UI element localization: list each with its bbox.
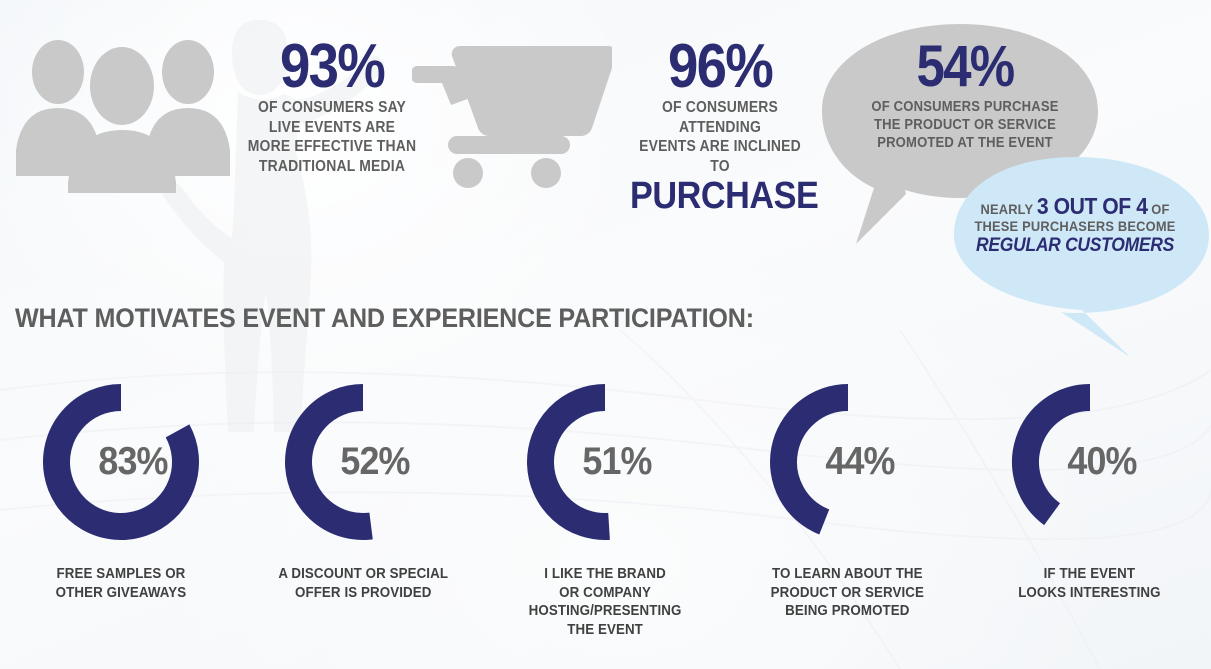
stat-block-96: 96% OF CONSUMERS ATTENDING EVENTS ARE IN… [620, 36, 820, 216]
bubble-line: THE PRODUCT OR SERVICE [858, 116, 1072, 134]
donut-category-label: IF THE EVENT LOOKS INTERESTING [1019, 565, 1161, 602]
bubble-line: OF CONSUMERS PURCHASE [858, 98, 1072, 116]
donut-ring: 51% [521, 378, 689, 546]
speech-bubble-blue-content: NEARLY 3 OUT OF 4 OF THESE PURCHASERS BE… [955, 198, 1195, 257]
stat-line: OF CONSUMERS ATTENDING [630, 98, 810, 137]
donut-value-label: 44% [770, 378, 925, 546]
people-group-icon [12, 28, 232, 193]
bubble-blue-line-2: THESE PURCHASERS BECOME [965, 218, 1186, 235]
bubble-blue-prefix: NEARLY [980, 201, 1033, 217]
donut-gauge-44: 44%TO LEARN ABOUT THE PRODUCT OR SERVICE… [727, 378, 969, 639]
stat-line: TRADITIONAL MEDIA [242, 157, 422, 177]
donut-category-label: I LIKE THE BRAND OR COMPANY HOSTING/PRES… [529, 565, 682, 639]
donut-value-label: 51% [528, 378, 683, 546]
speech-bubble-blue [930, 155, 1211, 360]
stat-block-93: 93% OF CONSUMERS SAY LIVE EVENTS ARE MOR… [232, 36, 432, 176]
donut-gauge-52: 52%A DISCOUNT OR SPECIAL OFFER IS PROVID… [242, 378, 484, 639]
stat-value-96: 96% [632, 36, 808, 98]
stat-line: MORE EFFECTIVE THAN [242, 137, 422, 157]
stat-value-93: 93% [244, 36, 420, 98]
shopping-cart-icon [412, 42, 612, 192]
stat-emphasis-purchase: PURCHASE [630, 176, 810, 216]
bubble-line: PROMOTED AT THE EVENT [858, 134, 1072, 152]
bubble-blue-suffix: OF [1151, 201, 1169, 217]
donut-gauge-51: 51%I LIKE THE BRAND OR COMPANY HOSTING/P… [484, 378, 726, 639]
donut-gauge-83: 83%FREE SAMPLES OR OTHER GIVEAWAYS [0, 378, 242, 639]
donut-value-label: 40% [1013, 378, 1168, 546]
stat-line: EVENTS ARE INCLINED TO [630, 137, 810, 176]
section-heading: WHAT MOTIVATES EVENT AND EXPERIENCE PART… [15, 303, 754, 333]
stat-line: OF CONSUMERS SAY [242, 98, 422, 118]
donut-ring: 40% [1006, 378, 1174, 546]
donut-value-label: 52% [286, 378, 441, 546]
donut-chart-row: 83%FREE SAMPLES OR OTHER GIVEAWAYS52%A D… [0, 378, 1211, 639]
donut-ring: 52% [279, 378, 447, 546]
donut-category-label: A DISCOUNT OR SPECIAL OFFER IS PROVIDED [278, 565, 448, 602]
donut-gauge-40: 40%IF THE EVENT LOOKS INTERESTING [969, 378, 1211, 639]
bubble-blue-line-1: NEARLY 3 OUT OF 4 OF [965, 198, 1186, 218]
donut-category-label: FREE SAMPLES OR OTHER GIVEAWAYS [56, 565, 187, 602]
stat-line: LIVE EVENTS ARE [242, 118, 422, 138]
bubble-blue-line-3: REGULAR CUSTOMERS [965, 235, 1186, 257]
bubble-value-54: 54% [860, 36, 1069, 98]
donut-ring: 44% [764, 378, 932, 546]
donut-category-label: TO LEARN ABOUT THE PRODUCT OR SERVICE BE… [771, 565, 924, 621]
speech-bubble-gray-content: 54% OF CONSUMERS PURCHASE THE PRODUCT OR… [846, 36, 1084, 152]
donut-ring: 83% [37, 378, 205, 546]
donut-value-label: 83% [44, 378, 199, 546]
bubble-blue-highlight: 3 OUT OF 4 [1037, 193, 1148, 219]
